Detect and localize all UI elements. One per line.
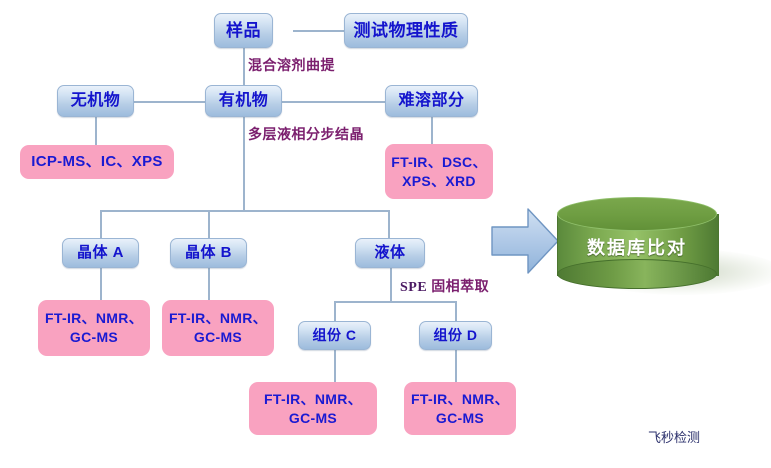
connector-organic-to-branch-bus bbox=[243, 117, 245, 211]
node-fraction-d-label: 组份 D bbox=[434, 328, 478, 343]
node-fraction-c-label: 组份 C bbox=[313, 328, 357, 343]
node-inorganic[interactable]: 无机物 bbox=[57, 85, 134, 117]
connector-insoluble-to-methods bbox=[431, 117, 433, 144]
database-top-ellipse bbox=[557, 197, 717, 231]
connector-liquid-to-spe-bus bbox=[390, 267, 392, 302]
leaf-crystal-a-methods-label: FT-IR、NMR、 GC-MS bbox=[45, 309, 143, 347]
database-label: 数据库比对 bbox=[557, 227, 717, 267]
leaf-fraction-c-methods-label: FT-IR、NMR、 GC-MS bbox=[264, 390, 362, 428]
connector-crystal-a-to-methods bbox=[100, 267, 102, 300]
leaf-inorganic-methods-label: ICP-MS、IC、XPS bbox=[31, 152, 162, 172]
watermark-line-1: 飞秒检测 bbox=[648, 430, 731, 449]
leaf-fraction-d-methods-label: FT-IR、NMR、 GC-MS bbox=[411, 390, 509, 428]
connector-fraction-d-to-methods bbox=[455, 350, 457, 382]
connector-fraction-c-to-methods bbox=[334, 350, 336, 382]
node-insoluble[interactable]: 难溶部分 bbox=[385, 85, 478, 117]
connector-organic-to-insoluble bbox=[282, 101, 385, 103]
connector-spe-bus bbox=[334, 301, 457, 303]
leaf-crystal-b-methods-label: FT-IR、NMR、 GC-MS bbox=[169, 309, 267, 347]
connector-spe-bus-to-fraction-d bbox=[455, 301, 457, 321]
edge-label-spe: SPE 固相萃取 bbox=[400, 276, 489, 296]
connector-inorganic-to-methods bbox=[95, 117, 97, 145]
node-fraction-c[interactable]: 组份 C bbox=[298, 321, 371, 350]
leaf-fraction-d-methods[interactable]: FT-IR、NMR、 GC-MS bbox=[404, 382, 516, 435]
connector-bus-to-liquid bbox=[388, 210, 390, 238]
node-sample[interactable]: 样品 bbox=[214, 13, 273, 48]
leaf-insoluble-methods-label: FT-IR、DSC、 XPS、XRD bbox=[391, 153, 487, 191]
node-liquid[interactable]: 液体 bbox=[355, 238, 425, 268]
node-organic-label: 有机物 bbox=[219, 93, 269, 110]
leaf-fraction-c-methods[interactable]: FT-IR、NMR、 GC-MS bbox=[249, 382, 377, 435]
edge-label-crystallization: 多层液相分步结晶 bbox=[248, 124, 364, 144]
connector-inorganic-to-organic bbox=[134, 101, 205, 103]
right-arrow-icon bbox=[490, 205, 560, 277]
node-crystal-b-label: 晶体 B bbox=[185, 245, 232, 261]
node-crystal-a[interactable]: 晶体 A bbox=[62, 238, 139, 268]
edge-label-extraction: 混合溶剂曲提 bbox=[248, 55, 335, 75]
connector-bus-to-crystal-b bbox=[208, 210, 210, 238]
leaf-inorganic-methods[interactable]: ICP-MS、IC、XPS bbox=[20, 145, 174, 179]
connector-crystal-b-to-methods bbox=[208, 267, 210, 300]
node-crystal-b[interactable]: 晶体 B bbox=[170, 238, 247, 268]
node-inorganic-label: 无机物 bbox=[71, 93, 121, 110]
node-fraction-d[interactable]: 组份 D bbox=[419, 321, 492, 350]
node-physical-test-label: 测试物理性质 bbox=[354, 22, 459, 40]
edge-label-spe-suffix: 固相萃取 bbox=[431, 278, 489, 294]
node-physical-test[interactable]: 测试物理性质 bbox=[344, 13, 468, 48]
node-organic[interactable]: 有机物 bbox=[205, 85, 282, 117]
node-liquid-label: 液体 bbox=[374, 245, 405, 261]
leaf-insoluble-methods[interactable]: FT-IR、DSC、 XPS、XRD bbox=[385, 144, 493, 199]
leaf-crystal-a-methods[interactable]: FT-IR、NMR、 GC-MS bbox=[38, 300, 150, 356]
connector-branch-bus bbox=[100, 210, 390, 212]
leaf-crystal-b-methods[interactable]: FT-IR、NMR、 GC-MS bbox=[162, 300, 274, 356]
edge-label-spe-prefix: SPE bbox=[400, 280, 431, 295]
connector-sample-to-physical-test bbox=[293, 30, 344, 32]
connector-sample-to-organic bbox=[243, 48, 245, 88]
node-insoluble-label: 难溶部分 bbox=[398, 93, 464, 110]
node-sample-label: 样品 bbox=[226, 22, 261, 40]
connector-bus-to-crystal-a bbox=[100, 210, 102, 238]
flowchart-canvas: 样品 测试物理性质 无机物 有机物 难溶部分 晶体 A 晶体 B 液体 组份 C… bbox=[0, 0, 771, 468]
connector-spe-bus-to-fraction-c bbox=[334, 301, 336, 321]
watermark: 飞秒检测 -让研发更简单 bbox=[648, 411, 731, 468]
database-cylinder-icon[interactable]: 数据库比对 bbox=[557, 197, 771, 297]
node-crystal-a-label: 晶体 A bbox=[77, 245, 124, 261]
